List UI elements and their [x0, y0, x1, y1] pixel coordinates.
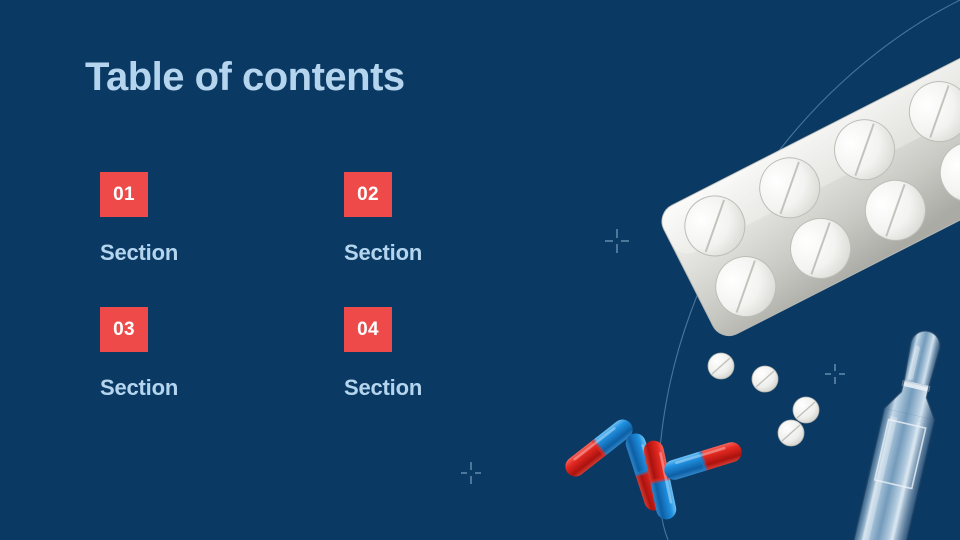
toc-badge-01: 01 — [100, 172, 148, 217]
loose-tablet-1 — [708, 353, 734, 379]
capsule-3 — [642, 439, 678, 521]
toc-number-03: 03 — [113, 319, 135, 341]
toc-label-01: Section — [100, 240, 344, 266]
toc-item-02[interactable]: 02 Section — [344, 172, 588, 307]
capsule-4 — [662, 440, 744, 483]
slide-table-of-contents: Table of contents 01 Section 02 Section … — [0, 0, 960, 540]
loose-tablet-2 — [752, 366, 778, 392]
toc-badge-02: 02 — [344, 172, 392, 217]
table-of-contents-list: 01 Section 02 Section 03 Section 04 Sect… — [100, 172, 500, 442]
toc-label-04: Section — [344, 375, 588, 401]
glass-ampoule — [850, 325, 954, 540]
blister-pack — [656, 18, 960, 342]
cross-decoration-center — [604, 228, 630, 254]
toc-label-03: Section — [100, 375, 344, 401]
toc-number-01: 01 — [113, 184, 135, 206]
cross-decoration-left — [459, 461, 483, 485]
loose-tablet-3 — [793, 397, 819, 423]
toc-item-01[interactable]: 01 Section — [100, 172, 344, 307]
capsules — [561, 415, 744, 521]
cross-decoration-right — [824, 363, 846, 385]
loose-tablets — [708, 353, 819, 446]
toc-number-02: 02 — [357, 184, 379, 206]
loose-tablet-4 — [778, 420, 804, 446]
toc-number-04: 04 — [357, 319, 379, 341]
toc-badge-03: 03 — [100, 307, 148, 352]
page-title: Table of contents — [85, 55, 405, 100]
toc-item-04[interactable]: 04 Section — [344, 307, 588, 442]
toc-label-02: Section — [344, 240, 588, 266]
capsule-2 — [623, 431, 667, 513]
toc-item-03[interactable]: 03 Section — [100, 307, 344, 442]
toc-badge-04: 04 — [344, 307, 392, 352]
